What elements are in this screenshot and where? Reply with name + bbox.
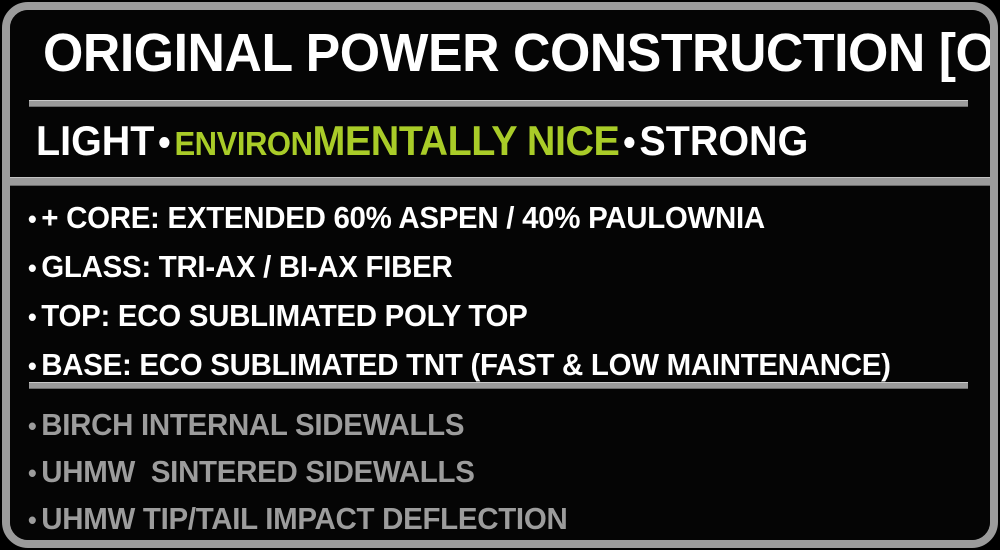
- subtitle-block: LIGHT•ENVIRONMENTALLY NICE•STRONG: [10, 109, 990, 175]
- subtitle: LIGHT•ENVIRONMENTALLY NICE•STRONG: [36, 119, 808, 166]
- list-item-label: + CORE: EXTENDED 60% ASPEN / 40% PAULOWN…: [41, 194, 765, 241]
- list-item: • TOP: ECO SUBLIMATED POLY TOP: [28, 292, 891, 341]
- list-item: • UHMW SINTERED SIDEWALLS: [28, 449, 567, 496]
- list-item-label: GLASS: TRI-AX / BI-AX FIBER: [41, 243, 452, 290]
- divider-rule-bottom: [29, 382, 968, 389]
- subtitle-separator-1: •: [154, 122, 174, 164]
- bullet-icon: •: [28, 196, 41, 243]
- primary-spec-list: • + CORE: EXTENDED 60% ASPEN / 40% PAULO…: [28, 194, 936, 390]
- bullet-icon: •: [28, 294, 41, 341]
- list-item: • GLASS: TRI-AX / BI-AX FIBER: [28, 243, 891, 292]
- list-item-label: BIRCH INTERNAL SIDEWALLS: [41, 402, 464, 448]
- divider-rule-main: [2, 177, 998, 186]
- subtitle-word-light: LIGHT: [36, 117, 154, 164]
- subtitle-eco-small: ENVIRON: [174, 125, 312, 162]
- panel-inner: ORIGINAL POWER CONSTRUCTION [OP+] LIGHT•…: [10, 10, 990, 540]
- subtitle-separator-2: •: [619, 122, 639, 164]
- list-item-label: TOP: ECO SUBLIMATED POLY TOP: [41, 292, 527, 339]
- secondary-spec-list: • BIRCH INTERNAL SIDEWALLS • UHMW SINTER…: [28, 402, 596, 543]
- list-item: • + CORE: EXTENDED 60% ASPEN / 40% PAULO…: [28, 194, 891, 243]
- list-item-label: UHMW SINTERED SIDEWALLS: [41, 449, 474, 495]
- subtitle-eco-big: MENTALLY NICE: [313, 117, 620, 164]
- bullet-icon: •: [28, 403, 41, 449]
- bullet-icon: •: [28, 497, 41, 543]
- bullet-icon: •: [28, 245, 41, 292]
- divider-rule-top: [29, 100, 968, 107]
- list-item: • BIRCH INTERNAL SIDEWALLS: [28, 402, 567, 449]
- list-item-label: UHMW TIP/TAIL IMPACT DEFLECTION: [41, 496, 567, 542]
- list-item-label: BASE: ECO SUBLIMATED TNT (FAST & LOW MAI…: [41, 341, 890, 388]
- bullet-icon: •: [28, 450, 41, 496]
- list-item: • UHMW TIP/TAIL IMPACT DEFLECTION: [28, 496, 567, 543]
- subtitle-word-strong: STRONG: [639, 117, 808, 164]
- title-block: ORIGINAL POWER CONSTRUCTION [OP+]: [10, 10, 990, 96]
- page-title: ORIGINAL POWER CONSTRUCTION [OP+]: [30, 24, 971, 82]
- construction-spec-panel: ORIGINAL POWER CONSTRUCTION [OP+] LIGHT•…: [2, 2, 998, 548]
